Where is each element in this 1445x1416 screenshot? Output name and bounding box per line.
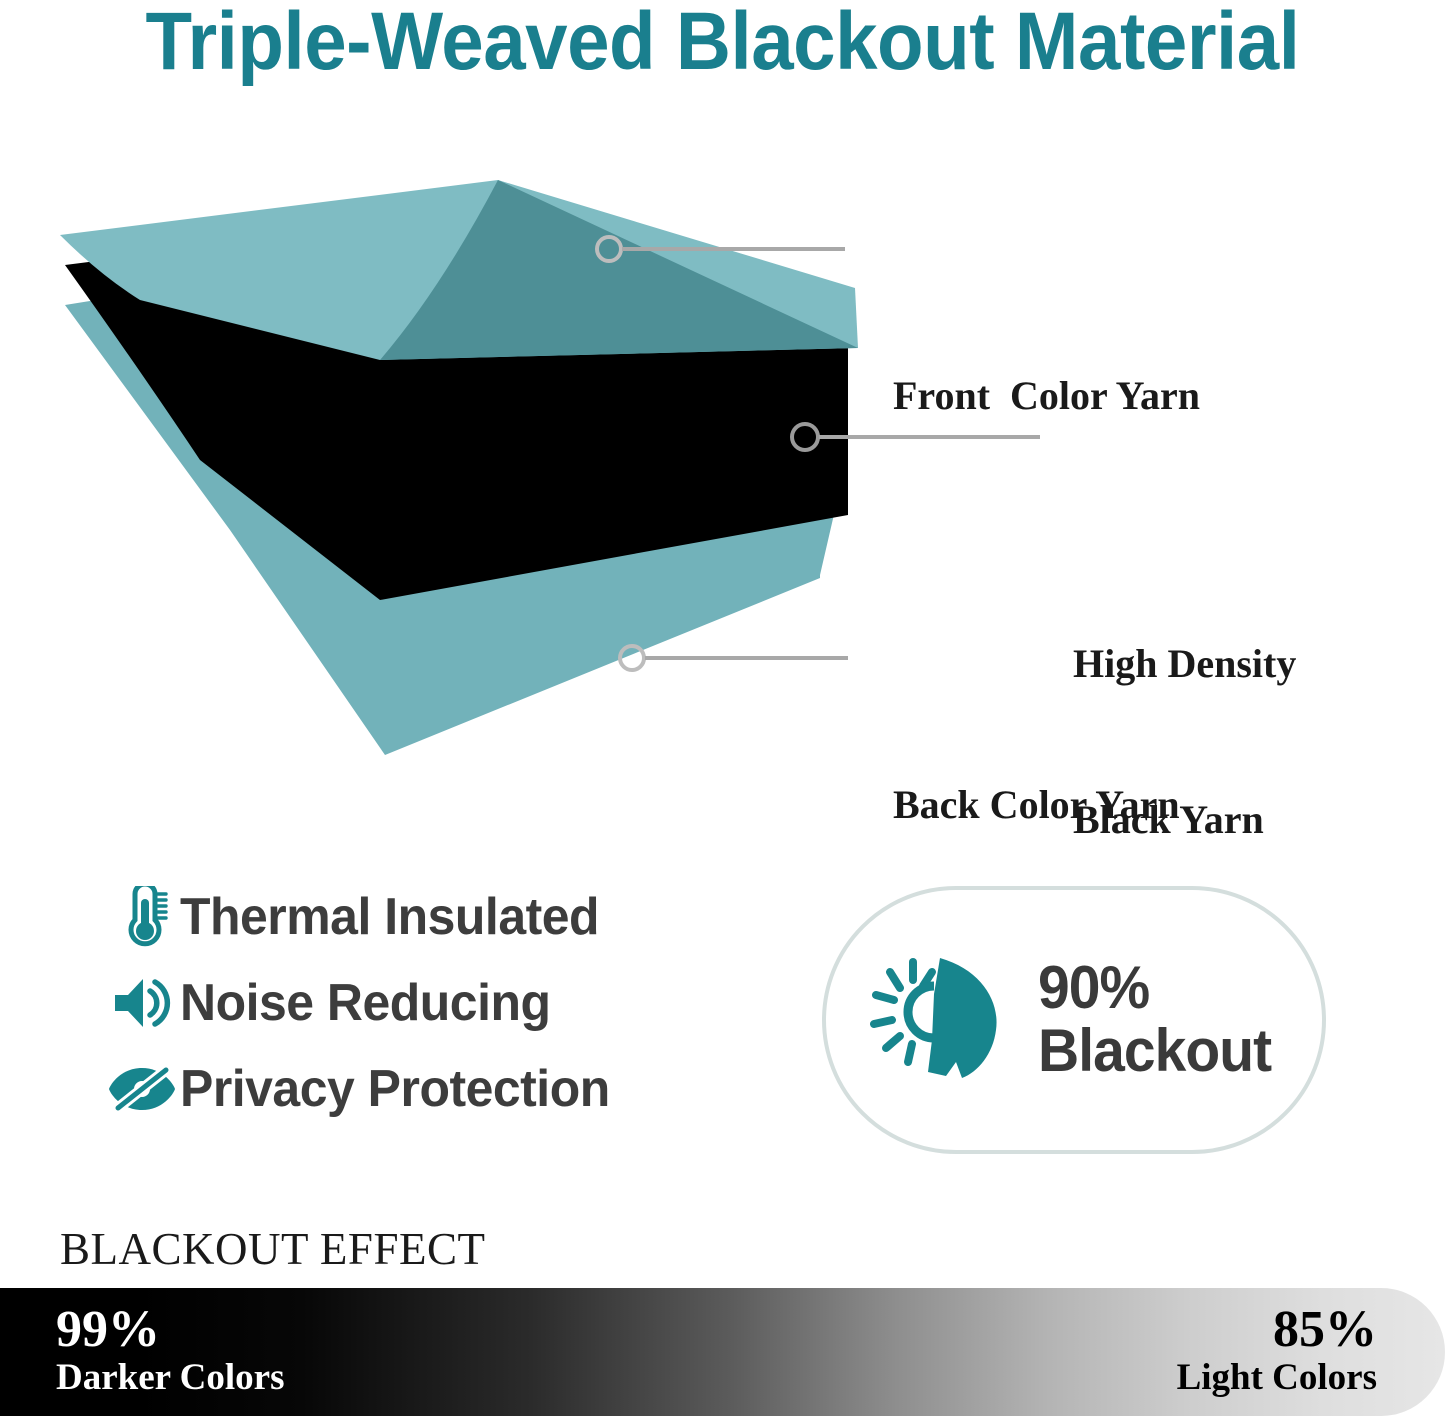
- blackout-percent: 90%: [1038, 957, 1271, 1019]
- darker-colors-caption: Darker Colors: [56, 1357, 284, 1399]
- feature-row-noise-reducing: Noise Reducing: [104, 960, 744, 1046]
- label-high-density-black-yarn-line1: High Density: [1073, 638, 1296, 690]
- eye-slash-icon: [104, 1063, 180, 1115]
- fabric-layers-diagram: Front Color Yarn High Density Black Yarn…: [0, 150, 1445, 770]
- darker-colors-percent: 99%: [56, 1303, 284, 1357]
- blackout-effect-title: BLACKOUT EFFECT: [60, 1224, 485, 1274]
- leader-line-back: [620, 646, 848, 670]
- blackout-effect-light: 85% Light Colors: [1177, 1303, 1377, 1399]
- feature-row-privacy-protection: Privacy Protection: [104, 1046, 744, 1132]
- thermometer-icon: [104, 886, 180, 948]
- page-title: Triple-Weaved Blackout Material: [51, 0, 1395, 88]
- label-back-color-yarn: Back Color Yarn: [893, 781, 1180, 829]
- label-front-color-yarn: Front Color Yarn: [893, 372, 1200, 420]
- feature-label-noise-reducing: Noise Reducing: [180, 974, 551, 1032]
- blackout-effect-darker: 99% Darker Colors: [56, 1303, 284, 1399]
- light-colors-percent: 85%: [1177, 1303, 1377, 1357]
- blackout-badge-text: 90% Blackout: [1038, 957, 1283, 1083]
- sun-behind-curtain-icon: [864, 950, 1016, 1090]
- feature-list: Thermal Insulated Noise Reducing: [104, 874, 744, 1132]
- blackout-badge: 90% Blackout: [822, 886, 1326, 1154]
- speaker-icon: [104, 974, 180, 1032]
- feature-label-privacy-protection: Privacy Protection: [180, 1060, 610, 1118]
- feature-label-thermal-insulated: Thermal Insulated: [180, 888, 599, 946]
- blackout-word: Blackout: [1038, 1019, 1271, 1083]
- light-colors-caption: Light Colors: [1177, 1357, 1377, 1399]
- feature-row-thermal-insulated: Thermal Insulated: [104, 874, 744, 960]
